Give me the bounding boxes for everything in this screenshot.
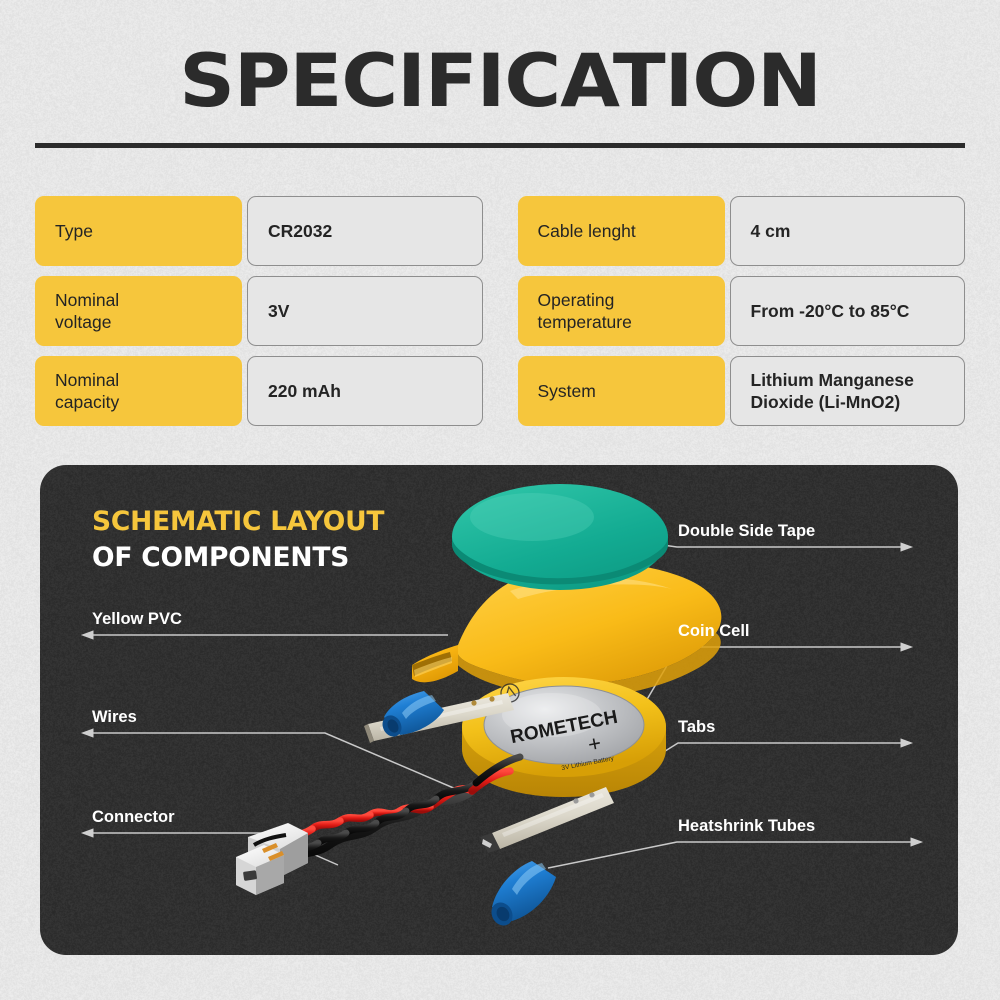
callout-wires: Wires xyxy=(92,708,137,727)
callout-coin-cell: Coin Cell xyxy=(678,622,750,641)
title-divider xyxy=(35,143,965,148)
callout-heatshrink-tubes: Heatshrink Tubes xyxy=(678,817,815,836)
callout-connector: Connector xyxy=(92,808,175,827)
spec-value-system: Lithium ManganeseDioxide (Li-MnO2) xyxy=(730,356,966,426)
spec-label-type: Type xyxy=(35,196,242,266)
schematic-heading-line2: OF COMPONENTS xyxy=(92,543,384,573)
spec-label-nominal-capacity: Nominalcapacity xyxy=(35,356,242,426)
spec-label-nominal-voltage: Nominalvoltage xyxy=(35,276,242,346)
table-row: Operatingtemperature From -20°C to 85°C xyxy=(518,276,966,346)
page-title: SPECIFICATION xyxy=(0,44,1000,120)
spec-value-nominal-capacity: 220 mAh xyxy=(247,356,483,426)
spec-value-operating-temperature: From -20°C to 85°C xyxy=(730,276,966,346)
double-side-tape xyxy=(452,484,668,590)
heatshrink-tube-lower xyxy=(487,861,556,929)
schematic-heading-line1: SCHEMATIC LAYOUT xyxy=(92,507,384,537)
connector xyxy=(236,823,308,895)
callout-tabs: Tabs xyxy=(678,718,715,737)
table-row: Cable lenght 4 cm xyxy=(518,196,966,266)
callout-double-side-tape: Double Side Tape xyxy=(678,522,815,541)
tab-lower xyxy=(480,787,614,853)
spec-label-cable-lenght: Cable lenght xyxy=(518,196,725,266)
schematic-panel: SCHEMATIC LAYOUT OF COMPONENTS xyxy=(40,465,958,955)
spec-value-nominal-voltage: 3V xyxy=(247,276,483,346)
specification-infographic: SPECIFICATION Type CR2032 Cable lenght 4… xyxy=(0,0,1000,1000)
table-row: Nominalvoltage 3V xyxy=(35,276,483,346)
spec-label-system: System xyxy=(518,356,725,426)
specification-table: Type CR2032 Cable lenght 4 cm Nominalvol… xyxy=(35,196,965,426)
heatshrink-tube-upper xyxy=(379,691,444,740)
spec-label-operating-temperature: Operatingtemperature xyxy=(518,276,725,346)
spec-value-type: CR2032 xyxy=(247,196,483,266)
spec-value-cable-lenght: 4 cm xyxy=(730,196,966,266)
schematic-heading: SCHEMATIC LAYOUT OF COMPONENTS xyxy=(92,507,384,573)
table-row: Type CR2032 xyxy=(35,196,483,266)
table-row: Nominalcapacity 220 mAh xyxy=(35,356,483,426)
table-row: System Lithium ManganeseDioxide (Li-MnO2… xyxy=(518,356,966,426)
callout-yellow-pvc: Yellow PVC xyxy=(92,610,182,629)
